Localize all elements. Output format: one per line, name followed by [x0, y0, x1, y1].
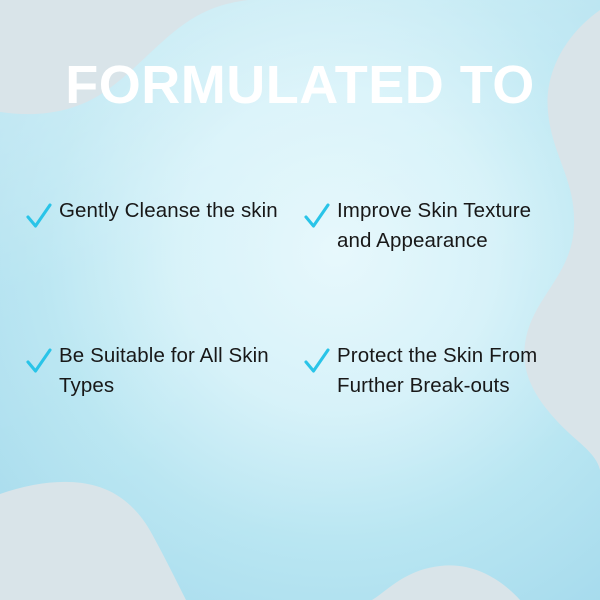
benefit-item: Gently Cleanse the skin	[26, 196, 304, 341]
benefit-item: Protect the Skin From Further Break-outs	[304, 341, 578, 486]
benefits-grid: Gently Cleanse the skin Improve Skin Tex…	[26, 196, 578, 486]
benefit-item: Be Suitable for All Skin Types	[26, 341, 304, 486]
benefit-label: Be Suitable for All Skin Types	[59, 341, 293, 402]
check-icon	[304, 347, 330, 377]
check-icon	[26, 202, 52, 232]
check-icon	[304, 202, 330, 232]
page-title: FORMULATED TO	[0, 58, 600, 112]
check-icon	[26, 347, 52, 377]
benefit-item: Improve Skin Texture and Appearance	[304, 196, 578, 341]
benefit-label: Protect the Skin From Further Break-outs	[337, 341, 571, 402]
benefit-label: Improve Skin Texture and Appearance	[337, 196, 571, 257]
benefit-label: Gently Cleanse the skin	[59, 196, 278, 226]
formulated-to-poster: FORMULATED TO Gently Cleanse the skin Im…	[0, 0, 600, 600]
